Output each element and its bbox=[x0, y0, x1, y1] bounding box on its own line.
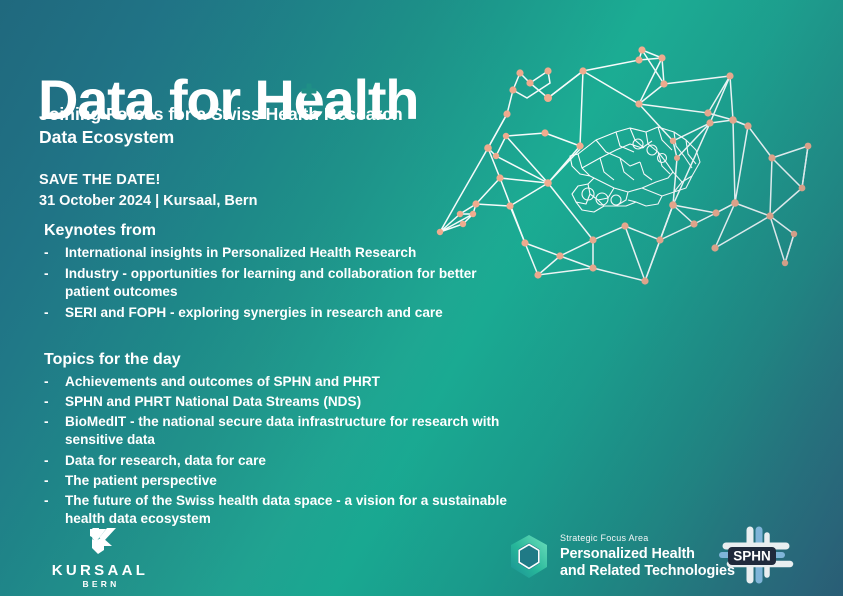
list-item-text: The future of the Swiss health data spac… bbox=[65, 493, 507, 526]
event-datetime-venue: 31 October 2024 | Kursaal, Bern bbox=[39, 191, 257, 212]
phrt-hexagon-icon bbox=[506, 533, 552, 581]
poster-canvas: Data for Health Joining Forces for a Swi… bbox=[0, 0, 843, 596]
phrt-eyebrow: Strategic Focus Area bbox=[560, 534, 735, 544]
topics-section: Topics for the day - Achievements and ou… bbox=[42, 350, 522, 530]
phrt-title-line-1: Personalized Health bbox=[560, 546, 735, 563]
kursaal-sub-wordmark: BERN bbox=[40, 580, 160, 589]
list-item-text: SPHN and PHRT National Data Streams (NDS… bbox=[65, 394, 361, 409]
list-item: - Industry - opportunities for learning … bbox=[42, 265, 512, 301]
list-item: - SERI and FOPH - exploring synergies in… bbox=[42, 304, 512, 322]
list-item: - The future of the Swiss health data sp… bbox=[42, 492, 522, 528]
list-item-text: BioMedIT - the national secure data infr… bbox=[65, 414, 499, 447]
list-item: - Data for research, data for care bbox=[42, 452, 522, 470]
topics-list: - Achievements and outcomes of SPHN and … bbox=[42, 373, 522, 528]
logo-phrt: Strategic Focus Area Personalized Health… bbox=[506, 532, 735, 582]
list-item: - International insights in Personalized… bbox=[42, 244, 512, 262]
subtitle-line-1: Joining Forces for a Swiss Health Resear… bbox=[39, 103, 469, 126]
kursaal-k-mark-icon bbox=[40, 526, 160, 556]
bullet-marker: - bbox=[44, 393, 58, 411]
list-item: - BioMedIT - the national secure data in… bbox=[42, 413, 522, 449]
logo-kursaal-bern: KURSAAL BERN bbox=[40, 526, 160, 588]
keynotes-section: Keynotes from - International insights i… bbox=[42, 221, 512, 326]
keynotes-heading: Keynotes from bbox=[44, 221, 512, 240]
logo-sphn: SPHN bbox=[710, 526, 802, 584]
list-item-text: SERI and FOPH - exploring synergies in r… bbox=[65, 305, 443, 320]
bullet-marker: - bbox=[44, 492, 58, 510]
handshake-wireframe bbox=[570, 127, 700, 212]
bullet-marker: - bbox=[44, 413, 58, 431]
subtitle-line-2: Data Ecosystem bbox=[39, 126, 469, 149]
list-item: - The patient perspective bbox=[42, 472, 522, 490]
save-the-date-label: SAVE THE DATE! bbox=[39, 170, 257, 191]
topics-heading: Topics for the day bbox=[44, 350, 522, 369]
list-item: - Achievements and outcomes of SPHN and … bbox=[42, 373, 522, 391]
bullet-marker: - bbox=[44, 472, 58, 490]
phrt-title-line-2: and Related Technologies bbox=[560, 563, 735, 580]
bullet-marker: - bbox=[44, 244, 58, 262]
bullet-marker: - bbox=[44, 452, 58, 470]
sphn-label: SPHN bbox=[733, 549, 771, 564]
list-item-text: Data for research, data for care bbox=[65, 453, 266, 468]
bullet-marker: - bbox=[44, 265, 58, 283]
keynotes-list: - International insights in Personalized… bbox=[42, 244, 512, 322]
page-subtitle: Joining Forces for a Swiss Health Resear… bbox=[39, 103, 469, 150]
list-item: - SPHN and PHRT National Data Streams (N… bbox=[42, 393, 522, 411]
bullet-marker: - bbox=[44, 373, 58, 391]
list-item-text: Industry - opportunities for learning an… bbox=[65, 266, 477, 299]
sphn-cross-mark-icon: SPHN bbox=[710, 526, 802, 584]
save-the-date-block: SAVE THE DATE! 31 October 2024 | Kursaal… bbox=[39, 170, 257, 211]
phrt-wordmark-block: Strategic Focus Area Personalized Health… bbox=[560, 534, 735, 580]
list-item-text: The patient perspective bbox=[65, 473, 217, 488]
list-item-text: International insights in Personalized H… bbox=[65, 245, 416, 260]
kursaal-wordmark: KURSAAL bbox=[40, 563, 160, 579]
bullet-marker: - bbox=[44, 304, 58, 322]
list-item-text: Achievements and outcomes of SPHN and PH… bbox=[65, 374, 380, 389]
